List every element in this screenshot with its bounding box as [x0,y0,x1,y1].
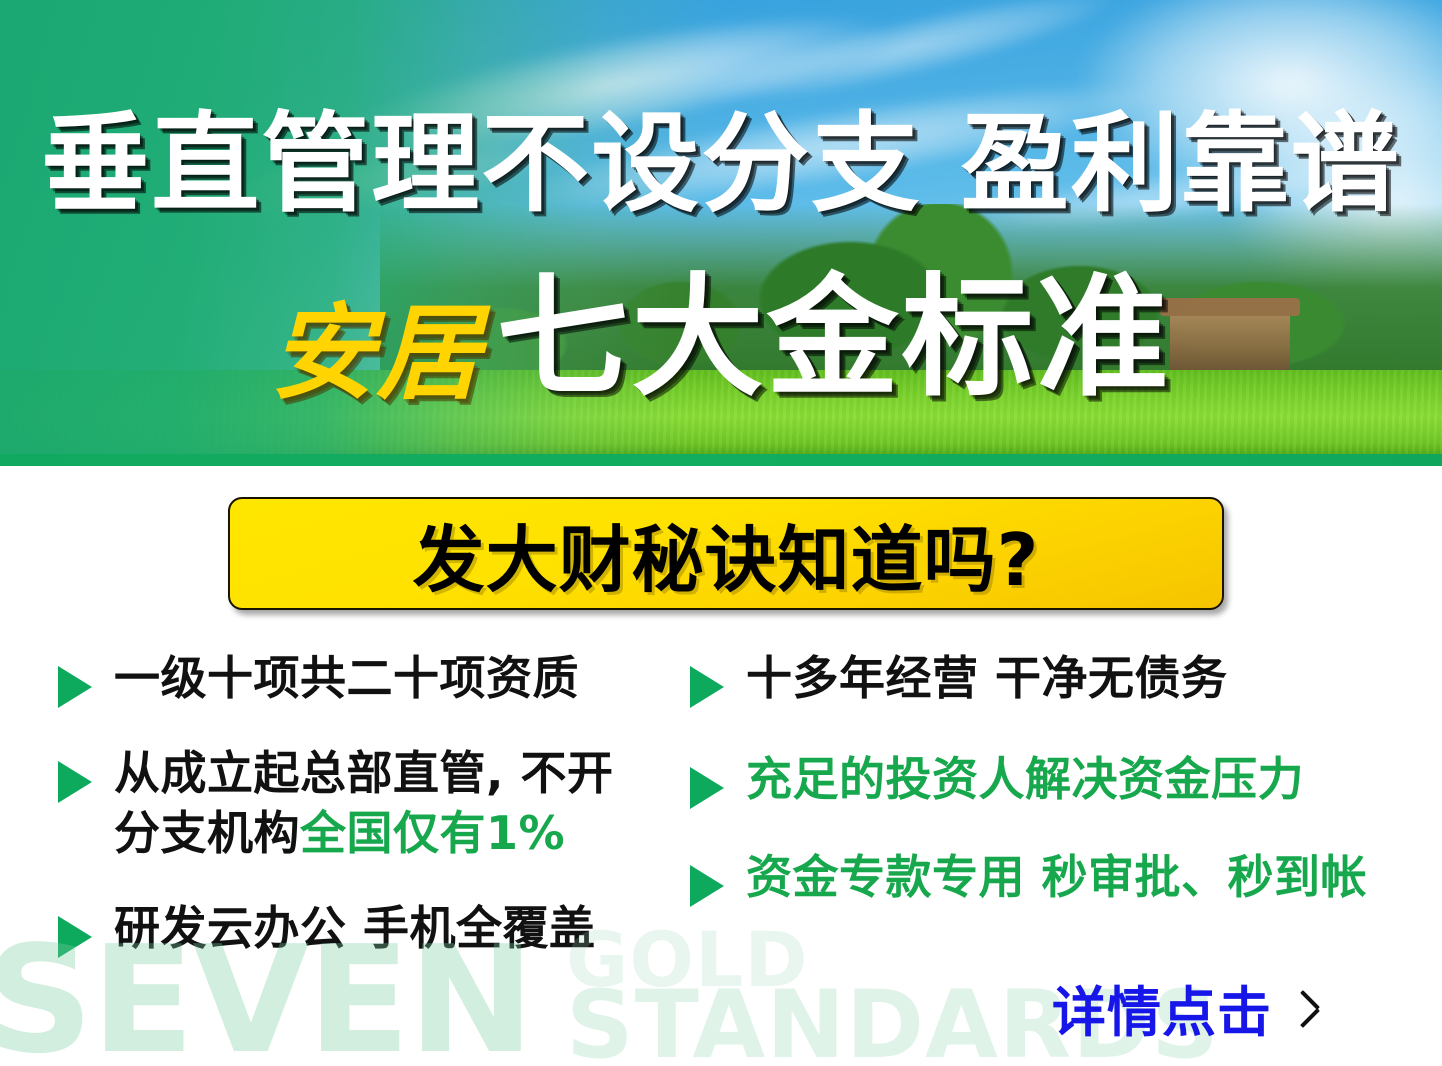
feature-item-qualifications: 一级十项共二十项资质 [58,648,698,709]
feature-highlight: 全国仅有1% [300,806,565,860]
feature-item-dedicated-funds: 资金专款专用 秒审批、秒到帐 [690,847,1390,908]
feature-line: 资金专款专用 秒审批、秒到帐 [746,850,1367,904]
features-column-left: 一级十项共二十项资质 从成立起总部直管, 不开 分支机构全国仅有1% 研发云办公… [58,648,698,993]
feature-line: 研发云办公 手机全覆盖 [114,901,596,955]
triangle-bullet-icon [690,666,724,708]
hero-headline-primary: 垂直管理不设分支 盈利靠谱 [0,108,1442,221]
triangle-bullet-icon [58,666,92,708]
hero-headline-gold-text: 安居 [270,291,482,414]
triangle-bullet-icon [690,865,724,907]
hero-banner: 垂直管理不设分支 盈利靠谱 安居七大金标准 [0,0,1442,466]
highlight-banner-text: 发大财秘诀知道吗? [413,501,1040,606]
feature-item-investors: 充足的投资人解决资金压力 [690,749,1390,810]
feature-text: 一级十项共二十项资质 [114,648,579,709]
feature-text: 从成立起总部直管, 不开 分支机构全国仅有1% [114,743,614,864]
feature-item-headquarters-direct: 从成立起总部直管, 不开 分支机构全国仅有1% [58,743,698,864]
feature-text: 资金专款专用 秒审批、秒到帐 [746,847,1367,908]
hero-headline-group: 垂直管理不设分支 盈利靠谱 安居七大金标准 [0,0,1442,466]
feature-item-ten-years: 十多年经营 干净无债务 [690,648,1390,709]
feature-text: 充足的投资人解决资金压力 [746,749,1304,810]
feature-line: 从成立起总部直管, 不开 [114,746,614,800]
feature-text: 研发云办公 手机全覆盖 [114,898,596,959]
promo-poster: 垂直管理不设分支 盈利靠谱 安居七大金标准 发大财秘诀知道吗? 一级十项共二十项… [0,0,1442,1066]
feature-line: 分支机构 [114,806,300,860]
feature-line: 充足的投资人解决资金压力 [746,752,1304,806]
chevron-right-icon [1296,988,1318,1028]
details-cta-link[interactable]: 详情点击 [1052,968,1318,1047]
triangle-bullet-icon [58,916,92,958]
triangle-bullet-icon [58,761,92,803]
features-column-right: 十多年经营 干净无债务 充足的投资人解决资金压力 资金专款专用 秒审批、秒到帐 [690,648,1390,942]
hero-bottom-bar [0,454,1442,466]
feature-line: 一级十项共二十项资质 [114,651,579,705]
hero-headline-secondary: 安居七大金标准 [0,272,1442,405]
feature-text: 十多年经营 干净无债务 [746,648,1228,709]
highlight-banner[interactable]: 发大财秘诀知道吗? [228,497,1224,610]
triangle-bullet-icon [690,767,724,809]
feature-line: 十多年经营 干净无债务 [746,651,1228,705]
features-section: 一级十项共二十项资质 从成立起总部直管, 不开 分支机构全国仅有1% 研发云办公… [0,648,1442,988]
hero-headline-white-text: 七大金标准 [497,261,1172,415]
details-cta-label: 详情点击 [1052,968,1272,1047]
feature-item-cloud-office: 研发云办公 手机全覆盖 [58,898,698,959]
